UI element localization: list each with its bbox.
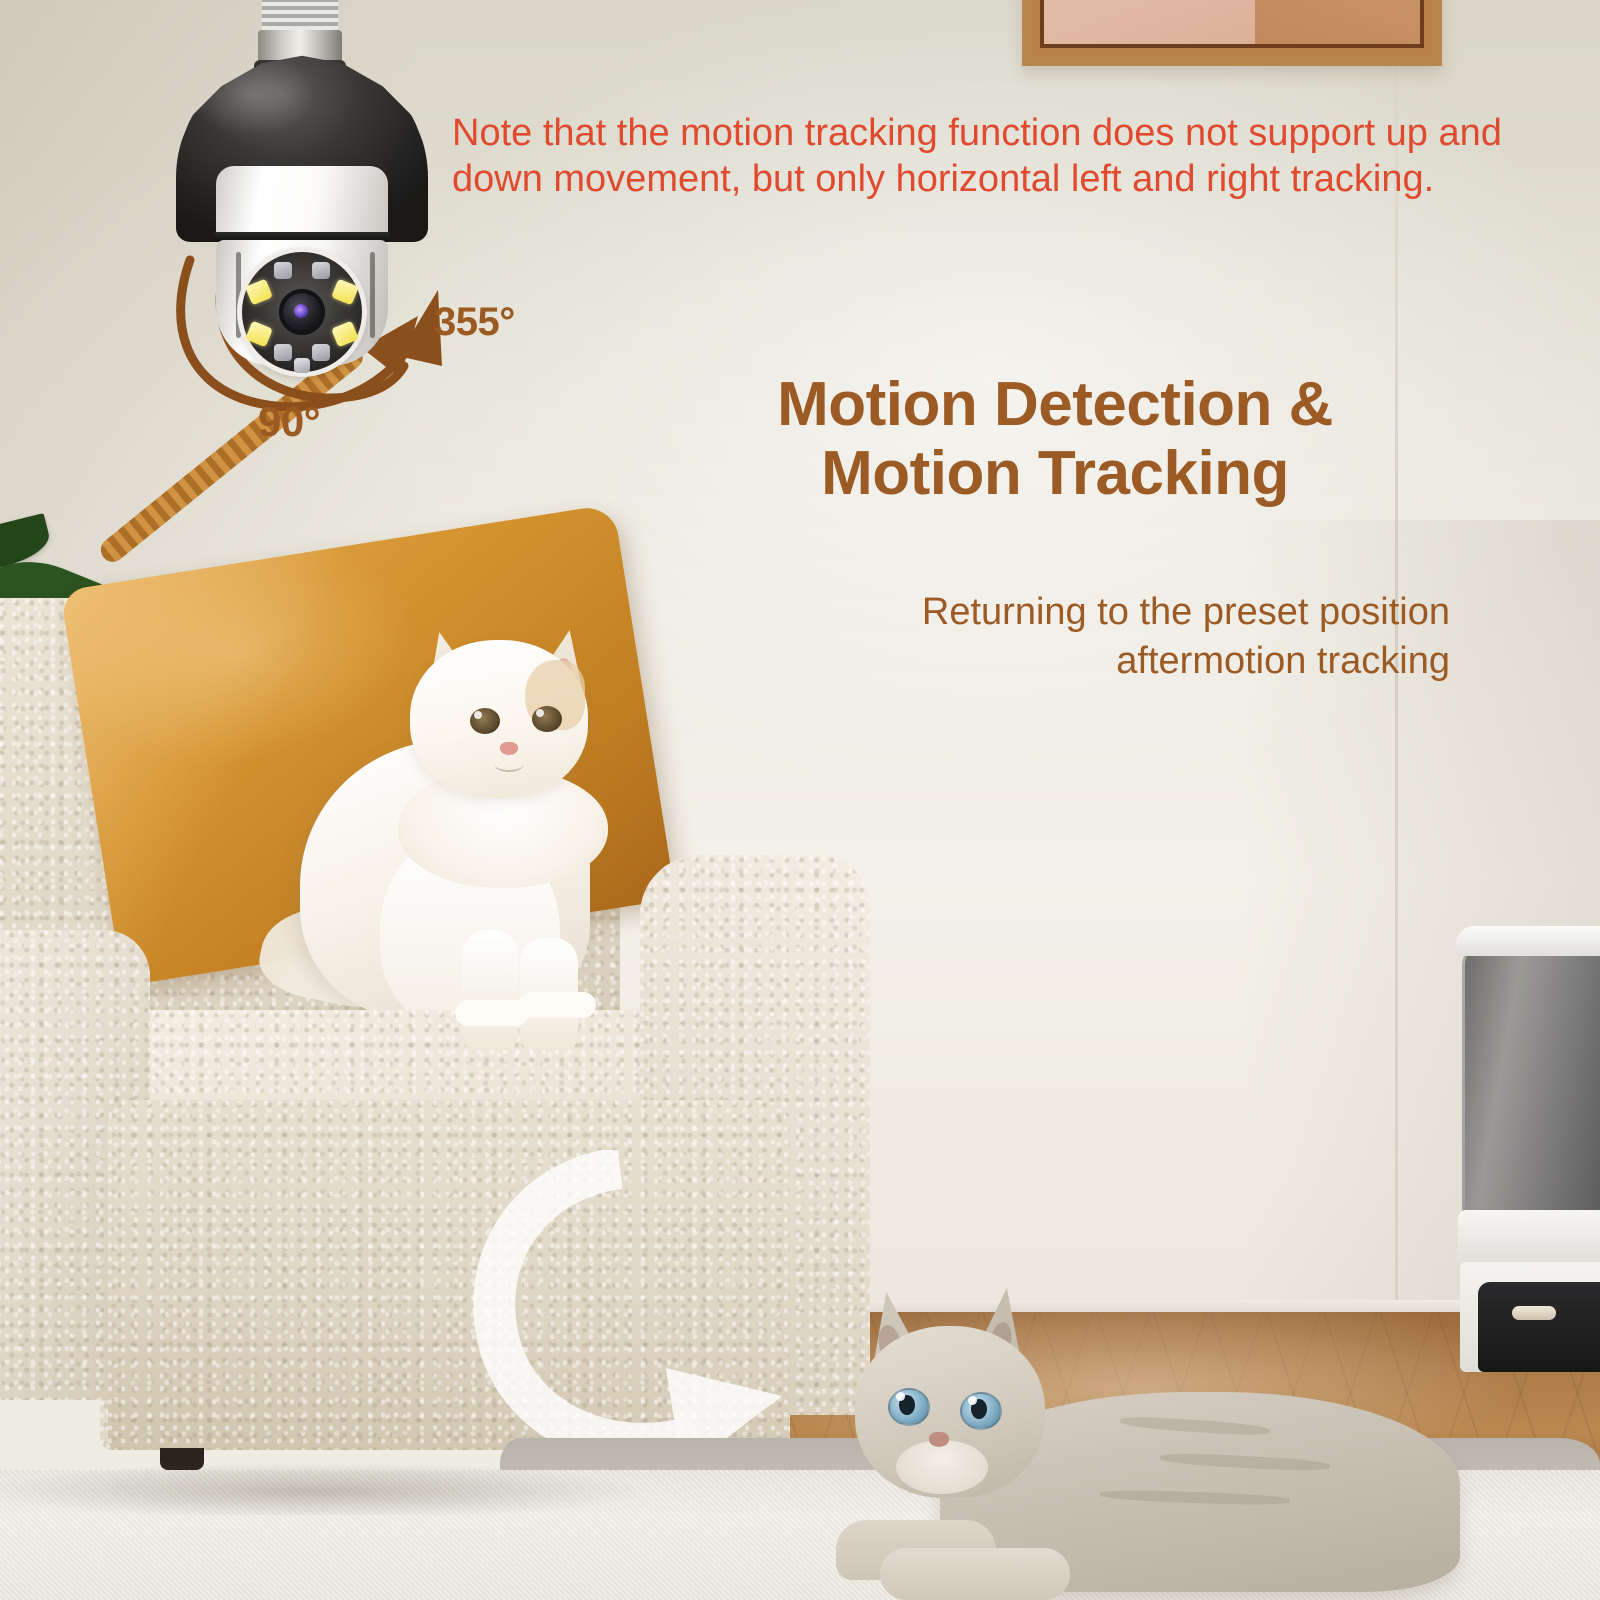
headline-line-2: Motion Tracking xyxy=(821,439,1289,508)
light-sensor-icon xyxy=(294,358,310,373)
white-cat-front-leg-left xyxy=(462,930,518,1050)
camera-body-upper xyxy=(216,166,388,240)
rotation-label-vertical: 90° xyxy=(258,398,320,446)
ir-led-icon xyxy=(274,344,292,361)
rug-shadow xyxy=(0,1455,900,1515)
grey-cat-eye-highlight xyxy=(968,1396,977,1405)
ir-led-icon xyxy=(274,262,292,279)
page-subtitle: Returning to the preset position aftermo… xyxy=(680,588,1450,685)
pet-feeder-handle xyxy=(1512,1306,1556,1320)
white-cat-eye-highlight xyxy=(474,711,482,719)
frame-art-panel-left xyxy=(1044,0,1262,44)
e27-screw-base xyxy=(262,0,338,34)
pet-feeder-lid xyxy=(1456,926,1600,956)
subhead-line-2: aftermotion tracking xyxy=(680,637,1450,686)
grey-cat-muzzle xyxy=(896,1440,988,1494)
rotation-label-horizontal: 355° xyxy=(434,300,515,345)
white-cat-paw-right xyxy=(518,992,596,1018)
white-cat-mouth xyxy=(494,756,524,772)
ir-led-icon xyxy=(312,344,330,361)
grey-cat-eye-highlight xyxy=(896,1392,905,1401)
warning-note-text: Note that the motion tracking function d… xyxy=(452,110,1538,203)
white-cat-eye-highlight xyxy=(536,709,544,717)
pet-feeder-hopper xyxy=(1462,940,1600,1218)
picture-frame xyxy=(1022,0,1442,66)
camera-vent-slot-right xyxy=(370,252,375,338)
pet-feeder-bowl xyxy=(1478,1282,1600,1372)
grey-cat-nose xyxy=(929,1432,949,1447)
subhead-line-1: Returning to the preset position xyxy=(680,588,1450,637)
picture-frame-art xyxy=(1040,0,1424,48)
camera-lens-glint xyxy=(294,304,308,318)
grey-cat-paw-second xyxy=(880,1548,1070,1600)
white-cat-nose xyxy=(500,742,518,755)
bulb-socket-ptz-camera xyxy=(182,0,422,344)
headline-line-1: Motion Detection & xyxy=(777,370,1333,439)
camera-vent-slot-left xyxy=(236,252,241,338)
page-title: Motion Detection & Motion Tracking xyxy=(660,370,1450,509)
frame-art-panel-right xyxy=(1255,0,1420,44)
ir-led-icon xyxy=(312,262,330,279)
scene-root: 355° 90° Note that the motion tracking f… xyxy=(0,0,1600,1600)
